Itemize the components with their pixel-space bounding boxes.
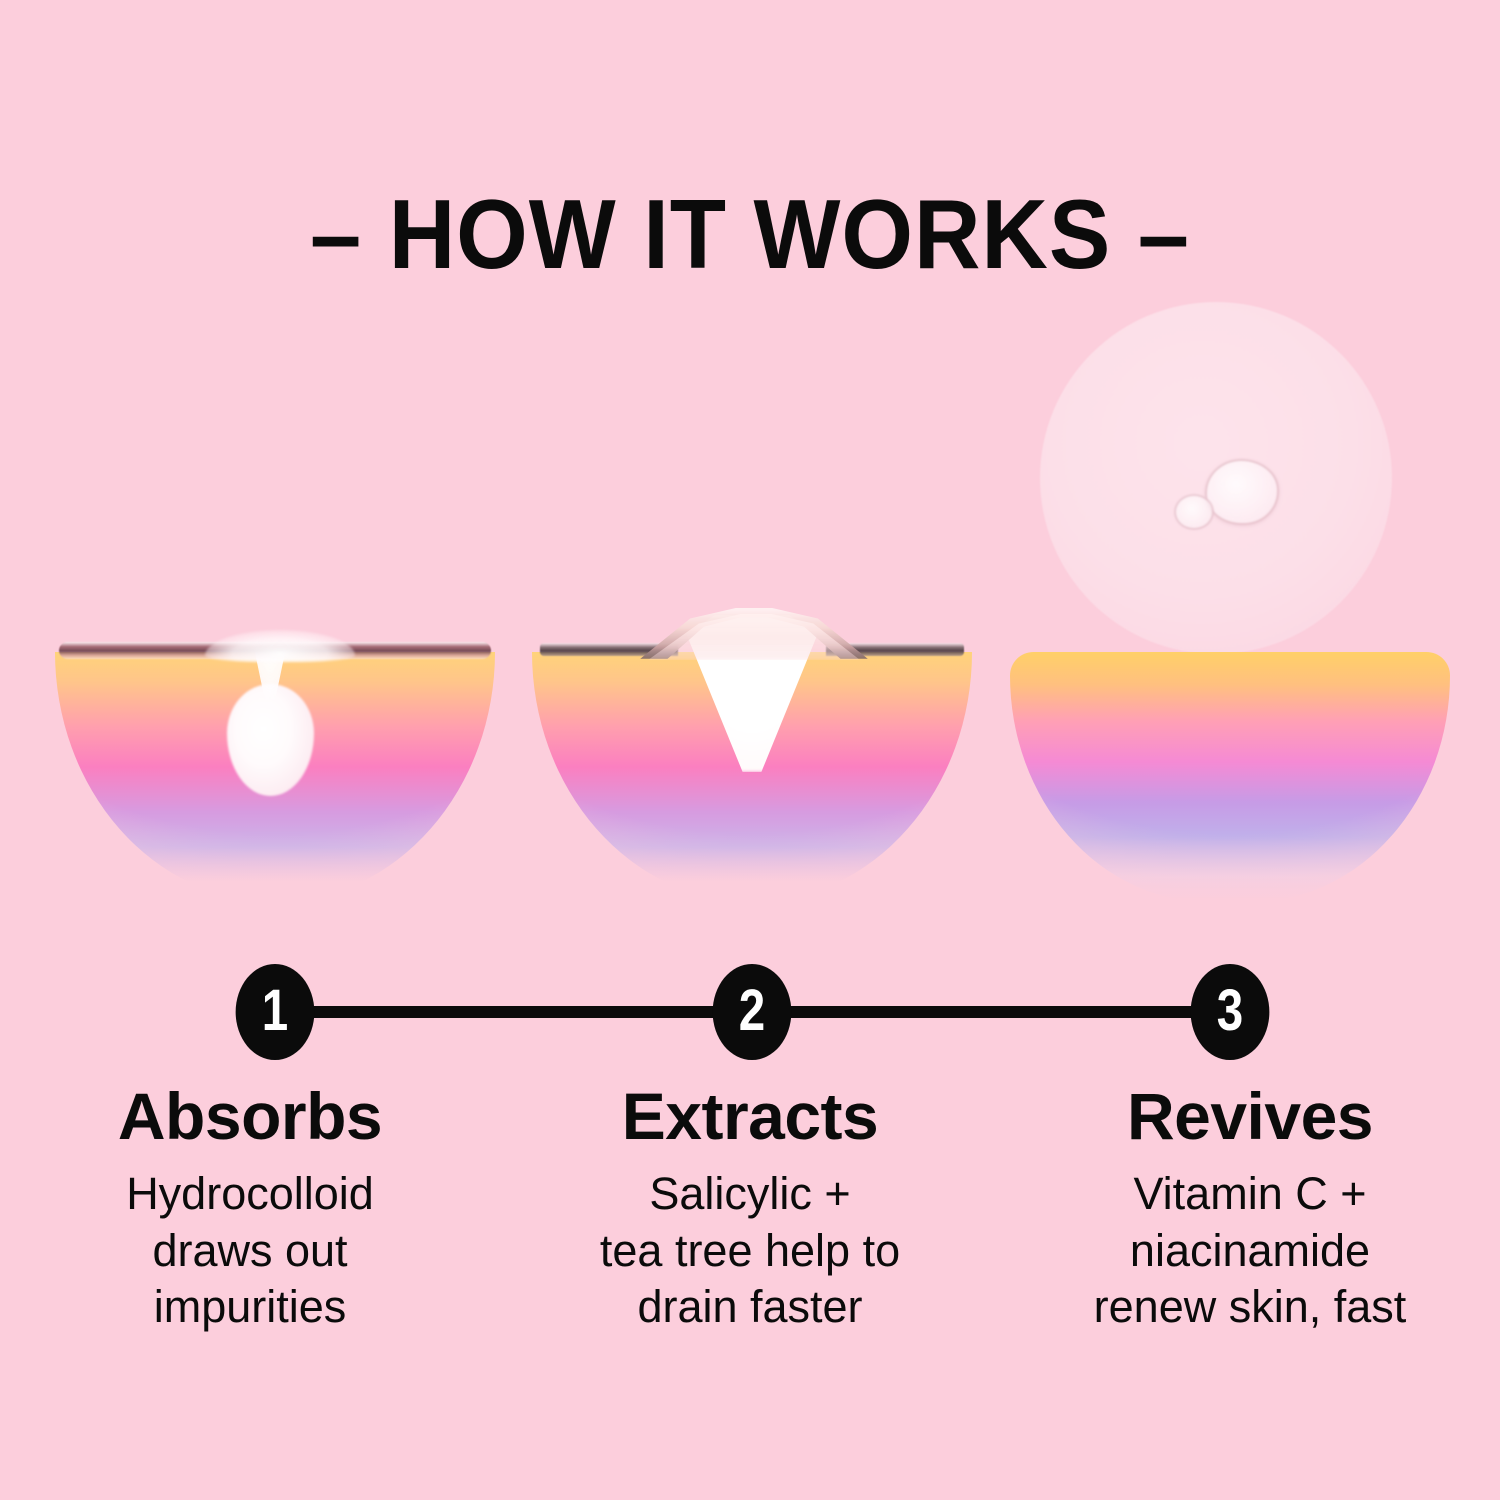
step-number-1: 1 xyxy=(262,982,288,1040)
patch-bump-highlight xyxy=(205,630,355,662)
caption-extracts: Extracts Salicylic + tea tree help to dr… xyxy=(500,1082,1000,1336)
revives-illustration xyxy=(1010,280,1450,900)
page-title: – HOW IT WORKS – xyxy=(45,178,1455,291)
step-marker-1: 1 xyxy=(236,964,315,1060)
caption-body-extracts: Salicylic + tea tree help to drain faste… xyxy=(514,1166,986,1336)
caption-absorbs: Absorbs Hydrocolloid draws out impuritie… xyxy=(0,1082,500,1336)
gunk-blob-large-icon xyxy=(1205,459,1279,525)
gunk-blob-small-icon xyxy=(1174,494,1214,530)
caption-body-absorbs: Hydrocolloid draws out impurities xyxy=(14,1166,486,1336)
step-marker-3: 3 xyxy=(1191,964,1270,1060)
step-timeline: 1 2 3 xyxy=(0,962,1500,1062)
caption-row: Absorbs Hydrocolloid draws out impuritie… xyxy=(0,1082,1500,1336)
caption-body-revives: Vitamin C + niacinamide renew skin, fast xyxy=(1014,1166,1486,1336)
step-number-3: 3 xyxy=(1217,982,1243,1040)
skin-dome-3 xyxy=(1010,652,1450,902)
extracts-illustration xyxy=(532,280,972,900)
caption-title-absorbs: Absorbs xyxy=(14,1082,486,1152)
timeline-connector-1-2 xyxy=(275,1006,752,1018)
caption-title-revives: Revives xyxy=(1014,1082,1486,1152)
caption-title-extracts: Extracts xyxy=(514,1082,986,1152)
step-marker-2: 2 xyxy=(713,964,792,1060)
illustration-row xyxy=(0,280,1500,900)
infographic-canvas: – HOW IT WORKS – xyxy=(0,0,1500,1500)
caption-revives: Revives Vitamin C + niacinamide renew sk… xyxy=(1000,1082,1500,1336)
dome-edge-fade-3 xyxy=(1010,652,1450,902)
used-patch-disc xyxy=(1040,302,1392,654)
timeline-connector-2-3 xyxy=(752,1006,1230,1018)
step-number-2: 2 xyxy=(739,982,765,1040)
absorbs-illustration xyxy=(55,280,495,900)
